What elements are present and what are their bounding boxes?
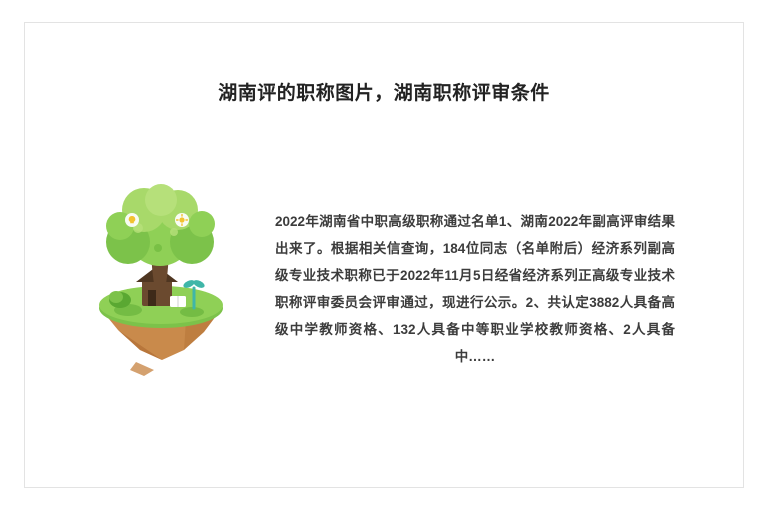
page-title: 湖南评的职称图片，湖南职称评审条件 xyxy=(0,78,768,105)
floating-island-tree-illustration xyxy=(66,180,256,380)
page-root: 湖南评的职称图片，湖南职称评审条件 xyxy=(0,0,768,510)
article-body-text: 2022年湖南省中职高级职称通过名单1、湖南2022年副高评审结果出来了。根据相… xyxy=(275,208,675,370)
article-content: 2022年湖南省中职高级职称通过名单1、湖南2022年副高评审结果出来了。根据相… xyxy=(60,170,708,390)
